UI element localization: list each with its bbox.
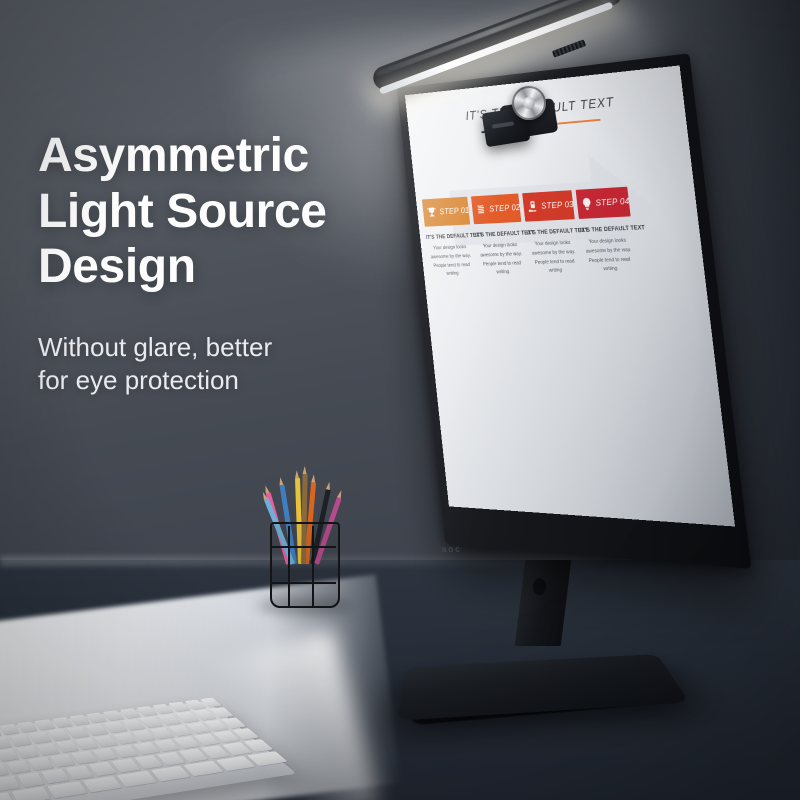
- product-marketing-image: Asymmetric Light Source Design Without g…: [0, 0, 800, 800]
- keyboard-key[interactable]: [11, 786, 51, 800]
- step-banner-label: STEP 02: [489, 203, 521, 215]
- step-banner-label: STEP 01: [439, 206, 470, 217]
- keyboard-key[interactable]: [6, 760, 31, 774]
- column-body-text: Your design looks awesome by the way. Pe…: [476, 241, 527, 278]
- keyboard-key[interactable]: [17, 721, 38, 732]
- pencil-tip: [326, 481, 332, 490]
- subheadline-line-1: Without glare, better: [38, 332, 272, 362]
- step-description-column: IT'S THE DEFAULT TEXTYour design looks a…: [526, 228, 581, 277]
- step-description-columns: IT'S THE DEFAULT TEXTYour design looks a…: [426, 225, 638, 280]
- step-description-column: IT'S THE DEFAULT TEXTYour design looks a…: [426, 233, 476, 280]
- column-heading: IT'S THE DEFAULT TEXT: [526, 228, 576, 237]
- hand-device-icon: [526, 200, 540, 214]
- step-description-column: IT'S THE DEFAULT TEXTYour design looks a…: [475, 230, 528, 278]
- keyboard-key[interactable]: [50, 754, 76, 767]
- keyboard-key[interactable]: [17, 772, 45, 787]
- keyboard-key[interactable]: [0, 776, 20, 791]
- step-banner: STEP 04: [576, 187, 631, 219]
- headline-line-2: Light Source: [38, 185, 327, 238]
- keyboard-key[interactable]: [0, 724, 20, 735]
- pencil-tip: [337, 489, 343, 498]
- pencil-tip: [303, 466, 307, 474]
- step-banner: STEP 01: [422, 197, 470, 227]
- keyboard-key[interactable]: [65, 765, 93, 779]
- keyboard-key[interactable]: [48, 729, 71, 741]
- lightbulb-icon: [580, 196, 594, 211]
- control-dial-center[interactable]: [523, 97, 535, 109]
- step-banner: STEP 02: [471, 193, 521, 224]
- keyboard-key[interactable]: [36, 743, 59, 756]
- spring-icon: [475, 203, 488, 217]
- monitor-brand-logo: aoc: [441, 544, 462, 554]
- step-banner: STEP 03: [522, 190, 575, 222]
- keyboard-key[interactable]: [71, 751, 97, 764]
- headline-line-3: Design: [38, 240, 196, 293]
- subheadline: Without glare, better for eye protection: [38, 331, 368, 398]
- column-body-text: Your design looks awesome by the way. Pe…: [581, 237, 637, 276]
- headline: Asymmetric Light Source Design: [38, 128, 368, 295]
- pencil-holder: [256, 468, 352, 608]
- column-heading: IT'S THE DEFAULT TEXT: [426, 233, 472, 241]
- wire-strut-left: [288, 526, 290, 608]
- wire-basket: [270, 522, 340, 608]
- pencil-tip: [278, 477, 283, 486]
- stand-cable-notch: [533, 578, 546, 595]
- wire-ring-lower: [270, 582, 336, 584]
- monitor-light-bar: [366, 24, 646, 156]
- wire-strut-right: [312, 526, 314, 608]
- keyboard-key[interactable]: [89, 762, 117, 776]
- step-banner-label: STEP 04: [595, 196, 630, 208]
- trophy-icon: [426, 206, 438, 220]
- keyboard-key[interactable]: [52, 717, 73, 728]
- subheadline-line-2: for eye protection: [38, 365, 239, 395]
- wire-ring-upper: [270, 546, 336, 548]
- column-body-text: Your design looks awesome by the way. Pe…: [527, 239, 581, 277]
- keyboard-key[interactable]: [0, 748, 19, 761]
- keyboard-key[interactable]: [41, 769, 69, 784]
- column-body-text: Your design looks awesome by the way. Pe…: [427, 243, 476, 279]
- keyboard-key[interactable]: [34, 719, 55, 730]
- marketing-copy: Asymmetric Light Source Design Without g…: [38, 128, 368, 398]
- keyboard[interactable]: [0, 636, 348, 800]
- keyboard-key[interactable]: [29, 732, 52, 744]
- step-banner-label: STEP 03: [541, 199, 575, 211]
- column-heading: IT'S THE DEFAULT TEXT: [475, 230, 523, 239]
- step-description-column: IT'S THE DEFAULT TEXTYour design looks a…: [580, 225, 638, 276]
- keyboard-key[interactable]: [28, 757, 53, 771]
- keyboard-key[interactable]: [9, 734, 31, 746]
- pencil-tip: [295, 470, 299, 478]
- headline-line-1: Asymmetric: [38, 129, 309, 182]
- keyboard-key[interactable]: [56, 740, 80, 752]
- pencil-tip: [311, 474, 316, 482]
- column-heading: IT'S THE DEFAULT TEXT: [580, 225, 633, 234]
- keyboard-key[interactable]: [16, 746, 39, 759]
